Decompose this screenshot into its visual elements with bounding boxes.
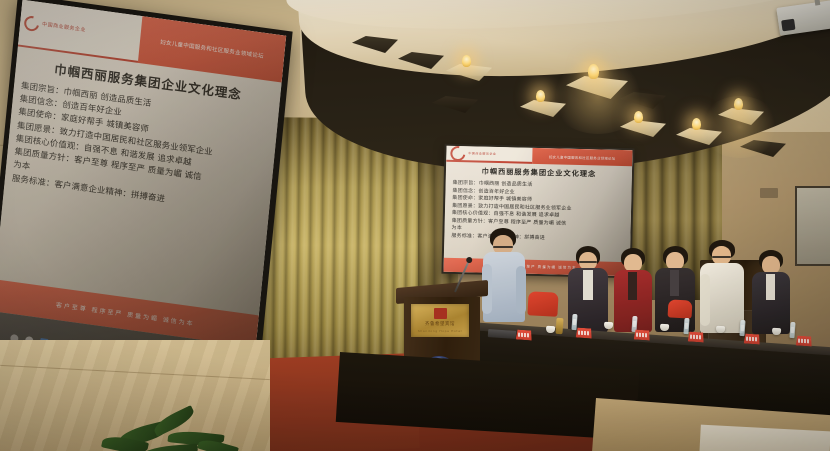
table-name-card xyxy=(516,329,533,340)
gold-vase xyxy=(555,318,563,334)
company-logo-icon xyxy=(22,13,42,33)
table-name-card xyxy=(634,329,651,340)
table-name-card xyxy=(744,333,761,344)
lamp-glow xyxy=(700,96,780,158)
shirt xyxy=(766,274,775,300)
glasses-icon xyxy=(579,261,597,263)
hotel-logo-icon xyxy=(434,308,447,319)
podium-plaque-en: Shandong Hope Hotel xyxy=(418,329,462,333)
attendee-5 xyxy=(752,250,790,336)
slide-ribbon-text: 妇女儿童中国服务和社区服务业领域论坛 xyxy=(160,38,264,60)
slide-logo: 中国商业服务企业 xyxy=(446,146,532,164)
slide-body: 集团宗旨：巾帼西丽 创造品质生活 集团信念：创造百年好企业 集团使命：家庭好帮手… xyxy=(444,178,631,245)
collar xyxy=(670,270,679,296)
glasses-icon xyxy=(493,246,513,248)
photo-scene: 中国商业服务企业 妇女儿童中国服务和社区服务业领域论坛 巾帼西丽服务集团企业文化… xyxy=(0,0,830,451)
wall-side-display xyxy=(795,186,830,266)
red-chair-cover xyxy=(527,291,558,317)
wall-speaker xyxy=(760,188,778,198)
slide-logo-text: 中国商业服务企业 xyxy=(42,22,86,33)
projector-lens-icon xyxy=(781,19,795,32)
potted-plant xyxy=(98,400,268,451)
podium-plaque: 齐鲁希望宾馆 Shandong Hope Hotel xyxy=(411,304,469,337)
slide-header-ribbon: 妇女儿童中国服务和社区服务业领域论坛 xyxy=(532,148,633,167)
arm xyxy=(516,266,526,314)
projector-mount xyxy=(814,0,820,6)
slide-content: 中国商业服务企业 妇女儿童中国服务和社区服务业领域论坛 巾帼西丽服务集团企业文化… xyxy=(0,0,286,394)
shirt xyxy=(583,270,593,300)
table-name-card xyxy=(576,327,593,338)
glasses-icon xyxy=(712,256,731,258)
collar xyxy=(628,272,637,300)
arm xyxy=(700,274,710,326)
company-logo-icon xyxy=(447,146,468,164)
red-chair-cover xyxy=(668,299,693,318)
table-name-card xyxy=(688,331,705,342)
lamp-glow xyxy=(550,60,646,134)
table-name-card xyxy=(796,335,813,346)
podium-plaque-cn: 齐鲁希望宾馆 xyxy=(425,321,455,327)
speaker-at-podium xyxy=(482,228,528,328)
slide-logo-text: 中国商业服务企业 xyxy=(468,152,496,156)
attendee-4 xyxy=(700,240,744,336)
projection-surface: 中国商业服务企业 妇女儿童中国服务和社区服务业领域论坛 巾帼西丽服务集团企业文化… xyxy=(0,0,286,394)
slide-ribbon-text: 妇女儿童中国服务和社区服务业领域论坛 xyxy=(549,154,616,161)
